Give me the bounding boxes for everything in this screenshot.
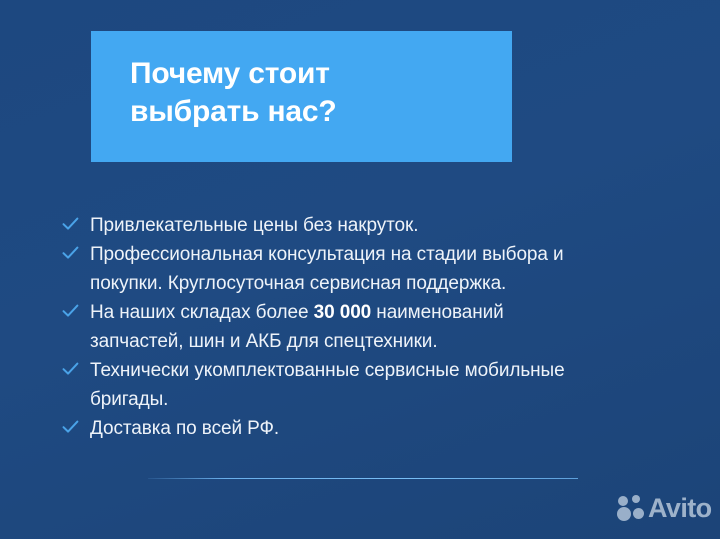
check-icon — [62, 240, 90, 269]
list-item: Привлекательные цены без накруток. — [62, 211, 682, 240]
list-item: На наших складах более 30 000 наименован… — [62, 298, 682, 356]
avito-watermark: Avito — [617, 494, 712, 522]
check-icon — [62, 356, 90, 385]
list-item: Технически укомплектованные сервисные мо… — [62, 356, 682, 414]
list-item-label: Профессиональная консультация на стадии … — [90, 240, 682, 298]
header-banner: Почему стоит выбрать нас? — [91, 31, 512, 162]
list-item-label: Привлекательные цены без накруток. — [90, 211, 682, 240]
check-icon — [62, 298, 90, 327]
avito-logo-icon — [617, 494, 645, 522]
avito-wordmark: Avito — [648, 494, 712, 522]
divider — [148, 478, 578, 479]
list-item-label: На наших складах более 30 000 наименован… — [90, 298, 682, 356]
list-item-text-before: На наших складах более — [90, 302, 314, 323]
list-item-label: Доставка по всей РФ. — [90, 414, 682, 443]
page-title: Почему стоит выбрать нас? — [130, 55, 490, 131]
check-icon — [62, 211, 90, 240]
list-item: Профессиональная консультация на стадии … — [62, 240, 682, 298]
benefits-list: Привлекательные цены без накруток. Профе… — [62, 211, 682, 443]
list-item: Доставка по всей РФ. — [62, 414, 682, 443]
list-item-label: Технически укомплектованные сервисные мо… — [90, 356, 682, 414]
check-icon — [62, 414, 90, 443]
slide-canvas: Почему стоит выбрать нас? Привлекательны… — [0, 0, 720, 539]
inventory-count: 30 000 — [314, 302, 372, 323]
